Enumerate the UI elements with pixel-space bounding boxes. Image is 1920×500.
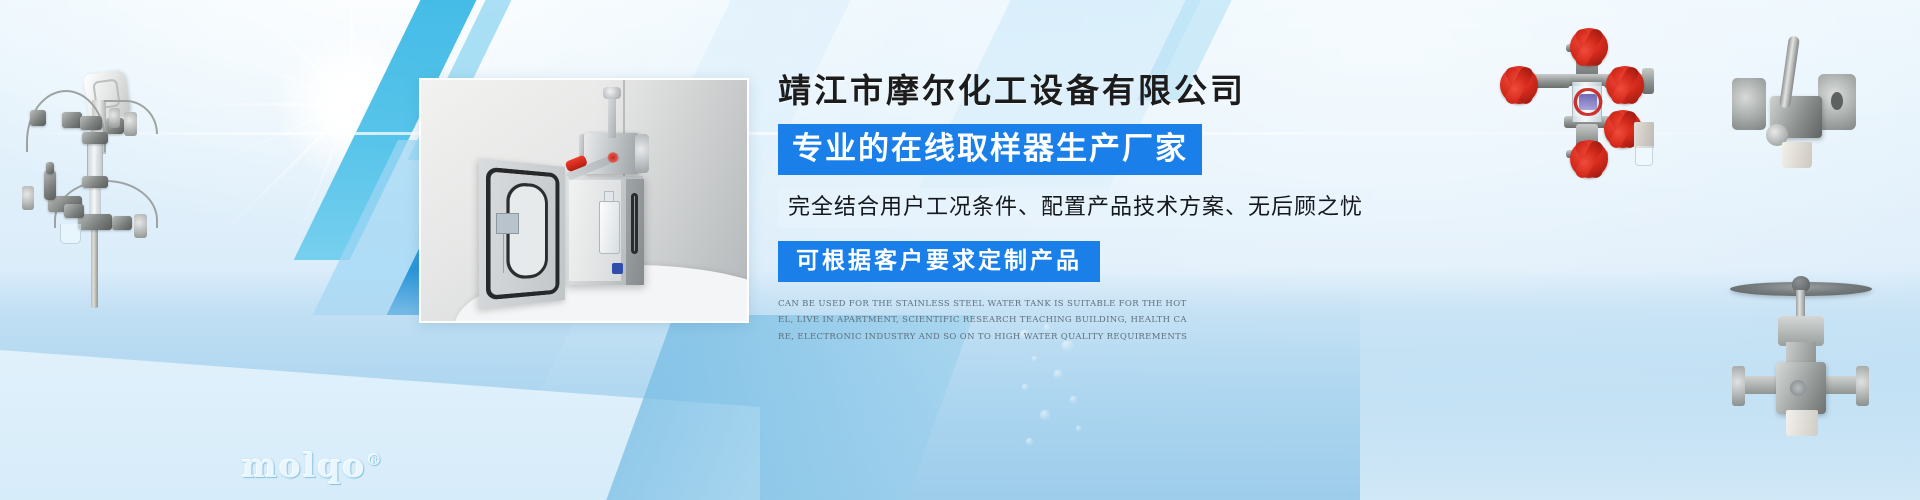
valve-flange-right	[635, 134, 650, 173]
brand-seal-logo	[1568, 88, 1608, 116]
company-name: 靖江市摩尔化工设备有限公司	[778, 70, 1418, 113]
cabinet-door	[479, 158, 565, 308]
end-flange-right	[1642, 68, 1654, 94]
customization-badge: 可根据客户要求定制产品	[778, 241, 1100, 282]
right-cross-valve-image	[1506, 36, 1674, 166]
valve-block	[80, 116, 102, 130]
pipe-flange	[124, 112, 137, 136]
sun-ray	[350, 0, 353, 104]
flange-left	[1732, 78, 1766, 130]
flange-right	[1856, 366, 1869, 406]
handwheel-hub	[1513, 79, 1525, 91]
valve-knob	[603, 87, 621, 99]
relief-cap	[46, 162, 54, 174]
brand-logo-stamp	[607, 152, 619, 163]
product-banner: 靖江市摩尔化工设备有限公司 专业的在线取样器生产厂家 完全结合用户工况条件、配置…	[0, 0, 1920, 500]
registered-mark: ®	[367, 451, 382, 469]
cabinet-handle	[631, 193, 639, 253]
subheadline-text: 完全结合用户工况条件、配置产品技术方案、无后顾之忧	[778, 188, 1373, 228]
valve-stem	[608, 94, 615, 137]
valve-block	[62, 112, 82, 128]
pipe-flange	[22, 186, 34, 210]
pipe-flange	[134, 214, 147, 238]
center-product-photo	[419, 78, 749, 323]
handwheel-hub	[1583, 41, 1595, 53]
right-gate-valve-image	[1716, 256, 1886, 446]
sample-bottle	[599, 201, 620, 254]
pipe-flange	[109, 108, 120, 128]
blue-bottle-cap	[612, 263, 624, 274]
relief-valve	[44, 170, 56, 200]
flange-collar	[82, 132, 108, 144]
handwheel-hub	[1619, 79, 1631, 91]
sample-beaker	[60, 224, 81, 244]
brand-watermark: molqo®	[242, 446, 382, 485]
sun-ray	[167, 103, 352, 106]
flange-collar	[82, 176, 108, 188]
seal-emblem	[1579, 94, 1597, 110]
watermark-text: molqo	[242, 446, 367, 485]
brand-logo-stamp	[1790, 380, 1806, 396]
sample-cup	[1782, 142, 1812, 168]
headline-banner: 专业的在线取样器生产厂家	[778, 124, 1202, 175]
banner-copy-block: 靖江市摩尔化工设备有限公司 专业的在线取样器生产厂家 完全结合用户工况条件、配置…	[778, 70, 1418, 346]
flange-right	[1818, 74, 1856, 130]
sample-beaker	[1635, 146, 1653, 166]
valve-block	[112, 216, 132, 230]
red-handwheel-left	[1500, 66, 1538, 104]
door-latch	[496, 213, 519, 235]
valve-handwheel	[30, 110, 46, 126]
flange-bore	[1831, 92, 1843, 110]
valve-block	[64, 204, 84, 218]
sample-cup	[1786, 410, 1818, 436]
english-description: CAN BE USED FOR THE STAINLESS STEEL WATE…	[778, 296, 1188, 346]
handwheel-hub	[1617, 123, 1629, 135]
red-handwheel-top	[1570, 28, 1608, 66]
left-equipment-image	[8, 28, 173, 308]
right-lever-valve-image	[1708, 30, 1886, 200]
red-handwheel-right	[1606, 66, 1644, 104]
drain-nozzle	[1634, 122, 1654, 148]
handwheel-hub	[1583, 153, 1595, 165]
door-key	[503, 234, 504, 273]
flange-left	[1732, 366, 1745, 406]
red-handwheel-bottom	[1570, 140, 1608, 178]
valve-arm-left	[1740, 376, 1780, 394]
